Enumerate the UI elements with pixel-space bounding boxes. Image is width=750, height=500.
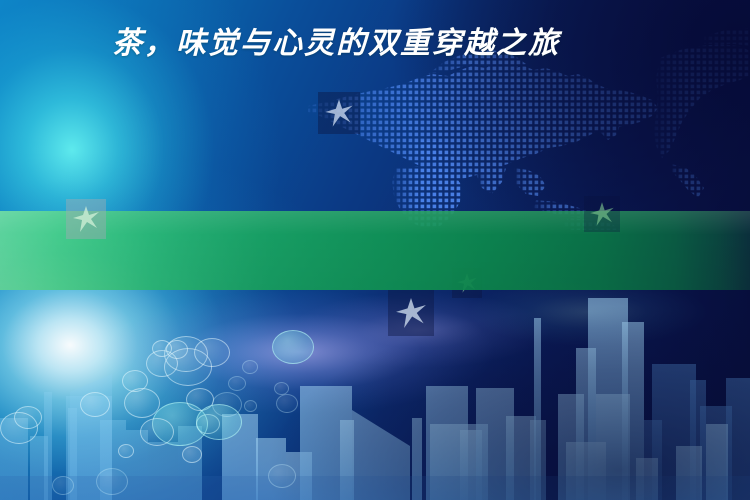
bubble: [52, 476, 74, 495]
bubble: [96, 468, 128, 495]
page-title: 茶，味觉与心灵的双重穿越之旅: [112, 0, 560, 79]
bird-marker-banner-right: [584, 196, 620, 232]
bubble: [80, 392, 110, 417]
bubble: [182, 446, 202, 463]
bird-icon: [66, 199, 106, 239]
title-banner: [0, 211, 750, 290]
banner-graphic: 茶，味觉与心灵的双重穿越之旅: [0, 0, 750, 500]
bird-icon: [388, 290, 434, 336]
bubble: [164, 348, 212, 386]
bubble: [118, 444, 134, 458]
bubble: [268, 464, 296, 488]
bubble: [276, 394, 298, 413]
bubble: [244, 400, 257, 412]
bubble: [212, 392, 242, 417]
bird-marker-map: [318, 92, 360, 134]
bubble: [242, 360, 258, 374]
banner-sheen: [0, 211, 750, 290]
bird-marker-skyline: [388, 290, 434, 336]
bird-marker-banner-left: [66, 199, 106, 239]
bubble: [140, 418, 174, 446]
bubble: [14, 406, 42, 429]
bubble: [228, 376, 246, 391]
bird-icon: [318, 92, 360, 134]
bubble: [272, 330, 314, 364]
bird-icon: [584, 196, 620, 232]
bubble: [274, 382, 289, 395]
